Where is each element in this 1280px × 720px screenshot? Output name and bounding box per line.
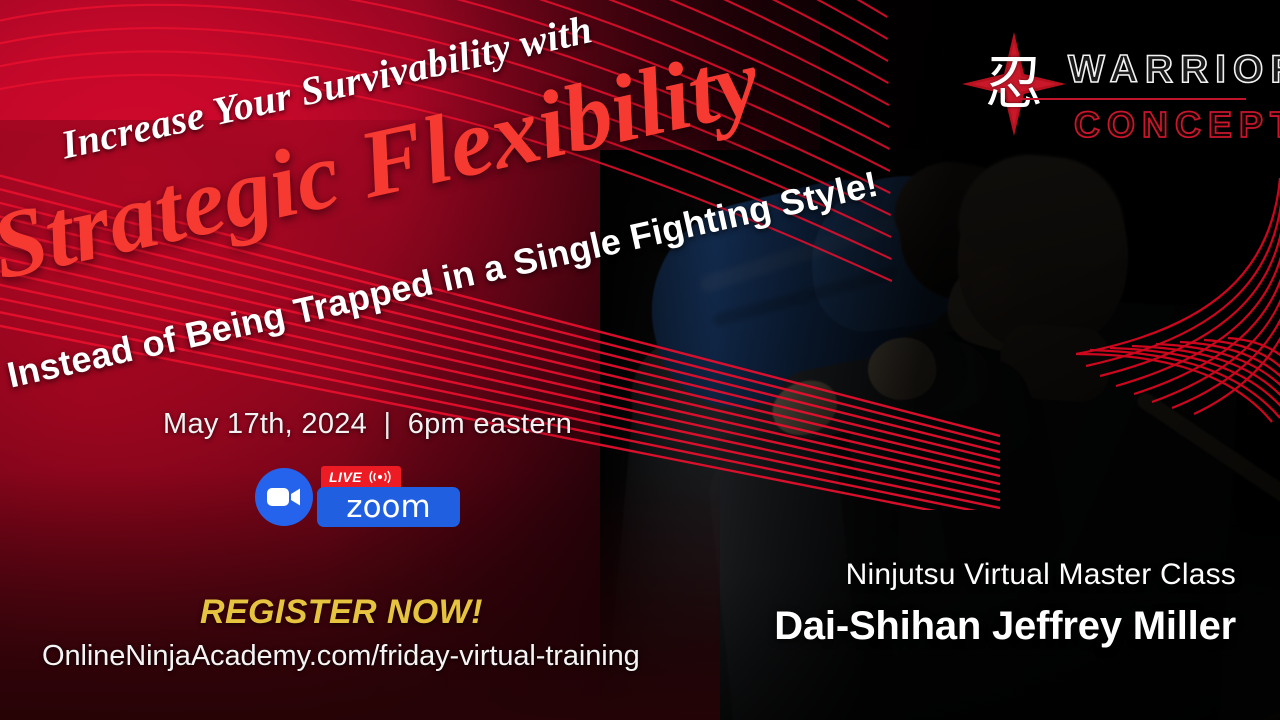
- promo-flyer: Increase Your Survivability with Strateg…: [0, 0, 1280, 720]
- live-banner: LIVE: [321, 466, 401, 488]
- registration-url[interactable]: OnlineNinjaAcademy.com/friday-virtual-tr…: [42, 640, 640, 673]
- event-time: 6pm eastern: [408, 408, 573, 440]
- zoom-app-icon: [255, 468, 313, 526]
- live-label: LIVE: [329, 469, 362, 485]
- datetime-separator: |: [375, 408, 399, 441]
- event-datetime: May 17th, 2024 | 6pm eastern: [163, 408, 572, 441]
- register-now-callout[interactable]: REGISTER NOW!: [200, 593, 483, 632]
- instructor-name: Dai-Shihan Jeffrey Miller: [774, 604, 1236, 649]
- video-camera-icon: [267, 486, 301, 508]
- zoom-wordmark: zoom: [317, 487, 460, 527]
- logo-word-warrior: WARRIOR: [1068, 48, 1280, 92]
- zoom-wordmark-text: zoom: [346, 489, 430, 525]
- logo-divider: [1018, 98, 1246, 100]
- class-title: Ninjutsu Virtual Master Class: [846, 558, 1236, 592]
- warrior-concepts-logo: 忍 WARRIOR CONCEPTS: [962, 28, 1252, 140]
- kanji-nin-glyph: 忍: [966, 46, 1062, 120]
- zoom-live-badge: LIVE zoom: [255, 466, 460, 528]
- logo-word-concepts: CONCEPTS: [1074, 104, 1280, 146]
- broadcast-signal-icon: [367, 470, 393, 484]
- event-date: May 17th, 2024: [163, 408, 367, 440]
